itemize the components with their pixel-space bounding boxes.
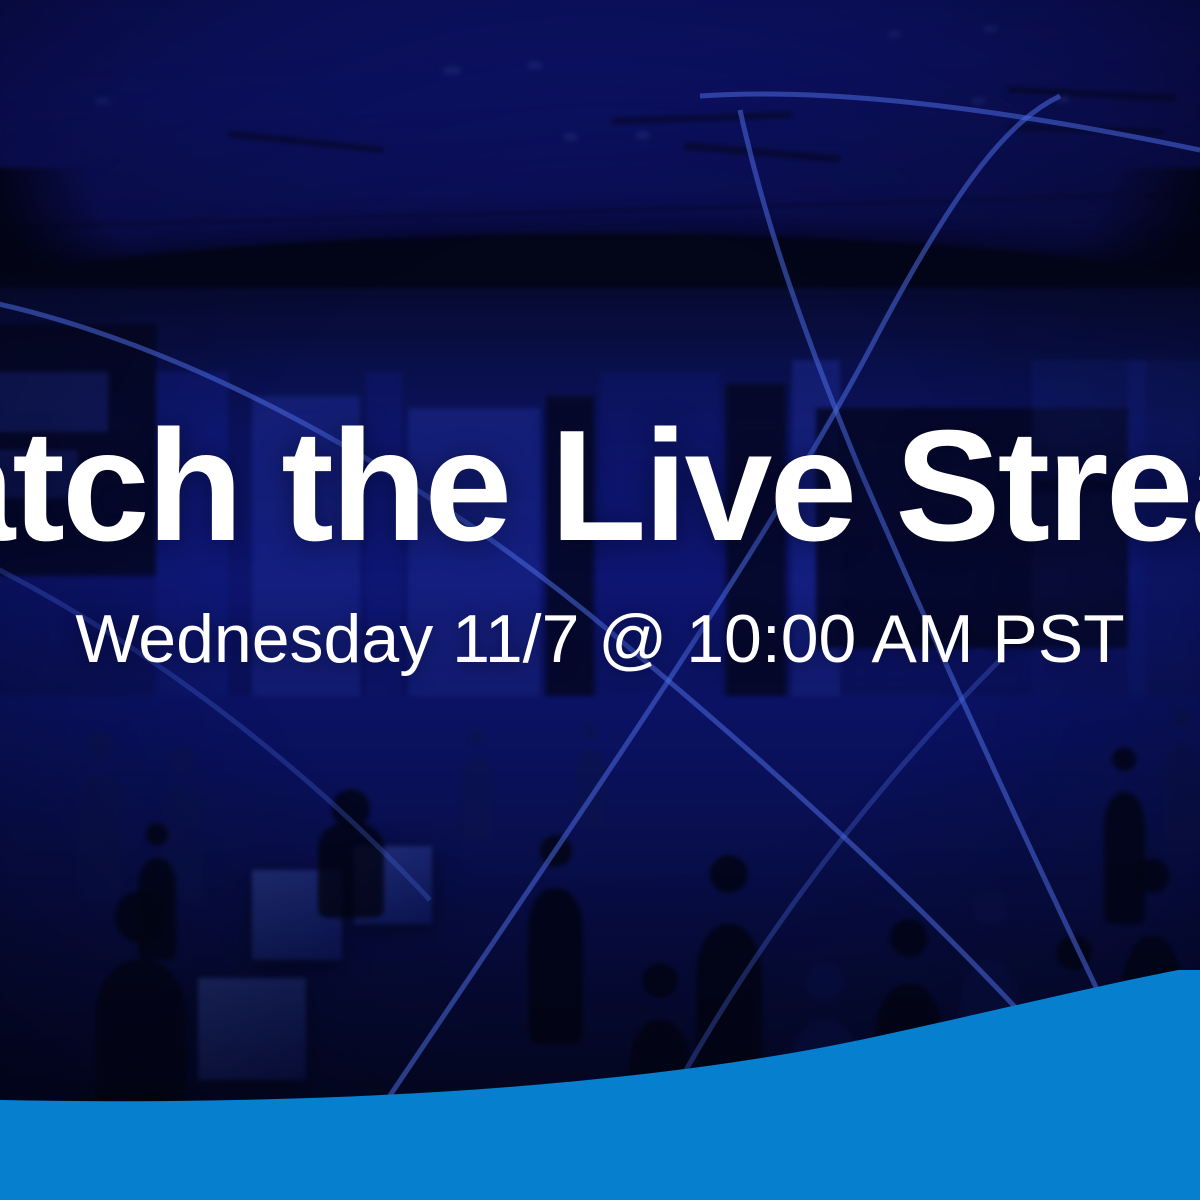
page-title: Watch the Live Stream (0, 407, 1200, 565)
event-datetime-subtitle: Wednesday 11/7 @ 10:00 AM PST (75, 605, 1124, 673)
live-stream-announcement-banner: Watch the Live Stream Wednesday 11/7 @ 1… (0, 0, 1200, 1200)
headline-text-block: Watch the Live Stream Wednesday 11/7 @ 1… (0, 0, 1200, 1200)
